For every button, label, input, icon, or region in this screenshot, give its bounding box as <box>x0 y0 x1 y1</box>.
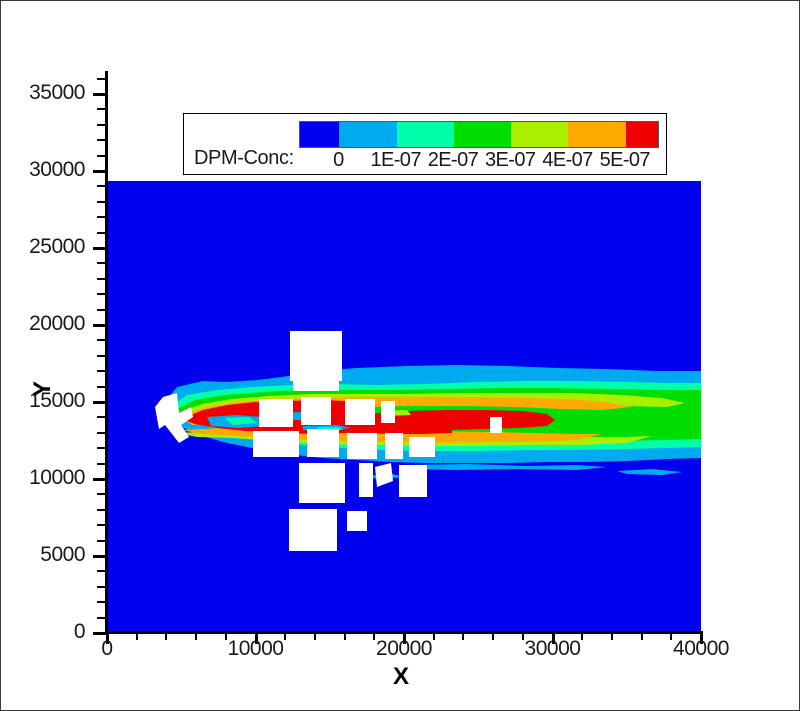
y-tick-label-7: 35000 <box>29 81 85 105</box>
colorbar-band-4 <box>511 122 568 147</box>
y-tick-minor <box>97 509 107 511</box>
colorbar-band-3 <box>454 122 511 147</box>
y-tick-minor <box>97 524 107 526</box>
y-tick-minor <box>97 617 107 619</box>
x-tick-minor <box>195 631 197 640</box>
y-tick-minor <box>97 201 107 203</box>
y-tick-minor <box>97 540 107 542</box>
y-tick-minor <box>97 463 107 465</box>
x-tick-minor <box>344 631 346 640</box>
x-tick-minor <box>670 631 672 640</box>
y-tick-label-0: 0 <box>74 620 85 644</box>
y-tick-minor <box>97 447 107 449</box>
y-tick-major-0 <box>93 632 107 635</box>
y-tick-label-2: 10000 <box>29 466 85 490</box>
colorbar-tick-0: 0 <box>333 149 344 172</box>
colorbar <box>299 121 659 148</box>
colorbar-tick-1: 1E-07 <box>370 149 420 172</box>
y-tick-major-7 <box>93 93 107 96</box>
colorbar-tick-2: 2E-07 <box>428 149 478 172</box>
y-tick-minor <box>97 232 107 234</box>
y-tick-minor <box>97 386 107 388</box>
y-tick-major-4 <box>93 324 107 327</box>
x-tick-label-4: 40000 <box>673 637 729 661</box>
y-tick-minor <box>97 355 107 357</box>
x-tick-label-1: 10000 <box>228 637 284 661</box>
colorbar-tick-4: 4E-07 <box>542 149 592 172</box>
colorbar-legend: DPM-Conc: 01E-072E-073E-074E-075E-07 <box>183 113 667 175</box>
y-tick-minor <box>97 570 107 572</box>
x-tick-minor <box>314 631 316 640</box>
y-tick-minor <box>97 601 107 603</box>
y-axis-title: Y <box>29 381 57 397</box>
x-tick-minor <box>462 631 464 640</box>
contour-field <box>107 181 701 633</box>
x-tick-minor <box>136 631 138 640</box>
y-tick-minor <box>97 278 107 280</box>
y-tick-minor <box>97 432 107 434</box>
x-tick-label-0: 0 <box>101 637 112 661</box>
x-tick-minor <box>284 631 286 640</box>
y-tick-minor <box>97 493 107 495</box>
y-tick-minor <box>97 185 107 187</box>
y-tick-minor <box>97 124 107 126</box>
x-tick-minor <box>373 631 375 640</box>
colorbar-tick-labels: 01E-072E-073E-074E-075E-07 <box>299 149 659 175</box>
y-tick-major-3 <box>93 401 107 404</box>
y-tick-minor <box>97 370 107 372</box>
colorbar-band-6 <box>626 122 658 147</box>
y-tick-minor <box>97 216 107 218</box>
colorbar-band-1 <box>339 122 396 147</box>
y-tick-label-1: 5000 <box>40 543 85 567</box>
x-tick-minor <box>165 631 167 640</box>
contour-plot-figure: 0500010000150002000025000300003500001000… <box>0 0 800 711</box>
colorbar-tick-3: 3E-07 <box>485 149 535 172</box>
x-tick-label-2: 20000 <box>376 637 432 661</box>
y-tick-minor <box>97 586 107 588</box>
x-tick-minor <box>492 631 494 640</box>
y-tick-label-6: 30000 <box>29 158 85 182</box>
y-tick-minor <box>97 293 107 295</box>
y-tick-minor <box>97 139 107 141</box>
colorbar-band-0 <box>300 122 339 147</box>
colorbar-tick-5: 5E-07 <box>600 149 650 172</box>
y-tick-major-6 <box>93 170 107 173</box>
y-tick-major-5 <box>93 247 107 250</box>
x-tick-minor <box>433 631 435 640</box>
y-tick-minor <box>97 339 107 341</box>
y-tick-minor <box>97 155 107 157</box>
colorbar-band-5 <box>568 122 625 147</box>
legend-title: DPM-Conc: <box>194 147 294 170</box>
contour-plot-area <box>107 181 701 633</box>
colorbar-band-2 <box>397 122 454 147</box>
y-tick-minor <box>97 108 107 110</box>
x-tick-minor <box>611 631 613 640</box>
y-tick-minor <box>97 262 107 264</box>
y-tick-label-4: 20000 <box>29 312 85 336</box>
y-tick-major-1 <box>93 555 107 558</box>
x-axis-title: X <box>1 663 800 691</box>
y-tick-minor <box>97 416 107 418</box>
x-tick-minor <box>522 631 524 640</box>
y-tick-major-2 <box>93 478 107 481</box>
x-tick-minor <box>641 631 643 640</box>
x-tick-label-3: 30000 <box>525 637 581 661</box>
x-tick-minor <box>225 631 227 640</box>
y-tick-label-5: 25000 <box>29 235 85 259</box>
y-tick-minor <box>97 309 107 311</box>
y-tick-minor <box>97 78 107 80</box>
x-tick-minor <box>581 631 583 640</box>
